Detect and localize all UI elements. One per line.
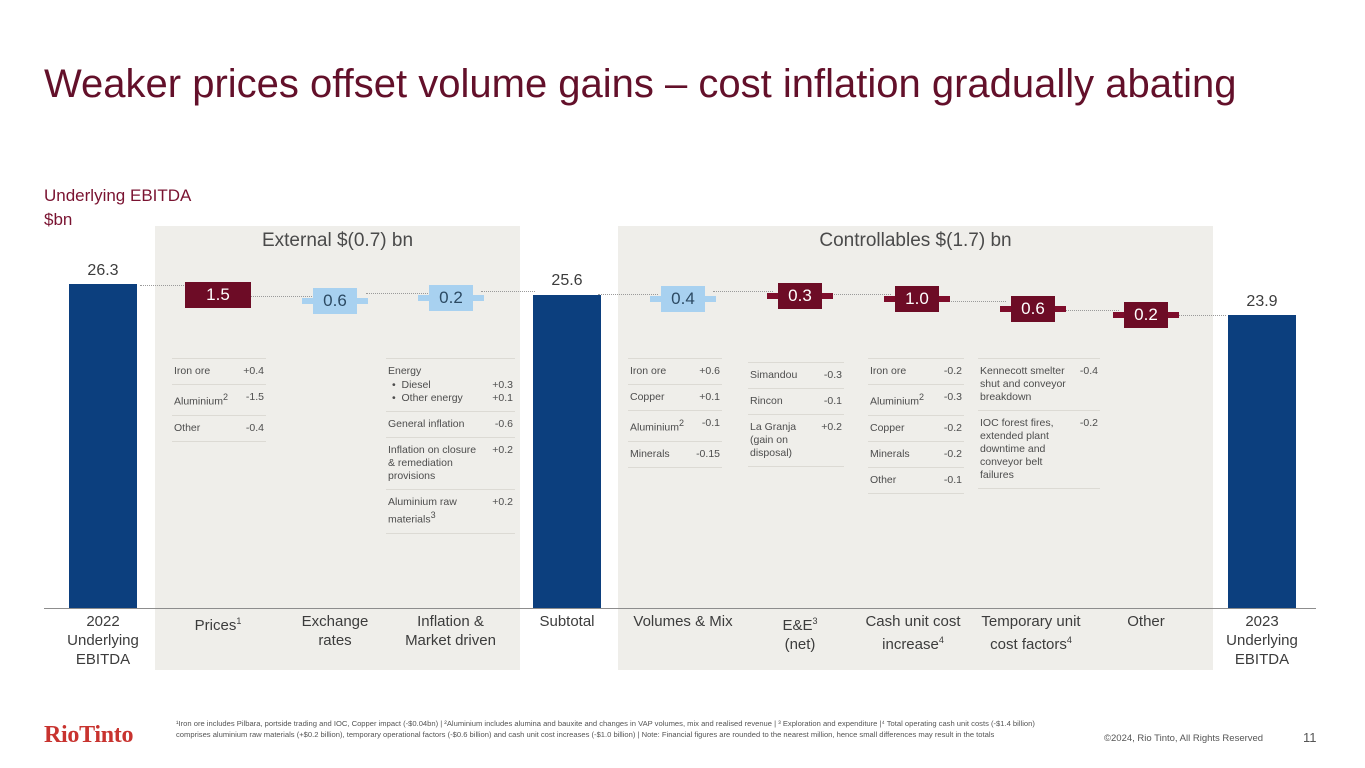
detail-row: La Granja (gain on disposal)+0.2 xyxy=(748,414,844,467)
detail-row-value: -0.3 xyxy=(944,391,962,404)
bar-label-subtotal: 25.6 xyxy=(527,272,607,290)
cat-subtotal: Subtotal xyxy=(509,612,625,631)
detail-bullet-label: • Diesel xyxy=(388,379,431,392)
bar-label-2023: 23.9 xyxy=(1222,293,1302,311)
detail-row-value: -0.2 xyxy=(944,365,962,378)
group-title-external: External $(0.7) bn xyxy=(155,230,520,252)
page-title: Weaker prices offset volume gains – cost… xyxy=(44,58,1237,110)
detail-row: Rincon-0.1 xyxy=(748,388,844,414)
detail-row: Iron ore+0.4 xyxy=(172,358,266,384)
bar-delta-inflation[interactable]: 0.2 xyxy=(418,285,484,311)
bar-2023-underlying-ebitda[interactable] xyxy=(1228,315,1296,608)
connector-inflation-sub xyxy=(481,291,535,292)
detail-row-value: -0.1 xyxy=(824,395,842,408)
detail-row: Aluminium raw materials3+0.2 xyxy=(386,489,515,534)
cat-volumes: Volumes & Mix xyxy=(622,612,744,631)
detail-row-value: -0.1 xyxy=(944,474,962,487)
cat-prices: Prices1 xyxy=(160,612,276,635)
bar-delta-prices-label: 1.5 xyxy=(185,282,251,308)
cat-ee: E&E3(net) xyxy=(757,612,843,654)
cat-line: increase4 xyxy=(855,631,971,654)
detail-row-label: Kennecott smelter shut and conveyor brea… xyxy=(980,365,1080,404)
detail-row-label: Minerals xyxy=(870,448,918,461)
bar-delta-ee-net-label: 0.3 xyxy=(778,283,822,309)
detail-table-volumes: Iron ore+0.6Copper+0.1Aluminium2-0.1Mine… xyxy=(628,358,722,468)
detail-row-value: -0.1 xyxy=(702,417,720,430)
copyright-text: ©2024, Rio Tinto, All Rights Reserved xyxy=(1104,733,1263,744)
detail-bullet-value: +0.3 xyxy=(492,379,513,392)
detail-row: General inflation-0.6 xyxy=(386,411,515,437)
connector-sub-volumes xyxy=(598,294,658,295)
detail-row: Copper-0.2 xyxy=(868,415,964,441)
detail-row: Simandou-0.3 xyxy=(748,362,844,388)
baseline-axis xyxy=(44,608,1316,609)
detail-row-label: Minerals xyxy=(630,448,678,461)
detail-row-label: Copper xyxy=(630,391,672,404)
detail-row-value: -1.5 xyxy=(246,391,264,404)
cat-line: Market driven xyxy=(385,631,516,650)
cat-line: E&E3 xyxy=(757,612,843,635)
bar-delta-exchange-rates[interactable]: 0.6 xyxy=(302,288,368,314)
cat-line: 2022 xyxy=(46,612,160,631)
bar-2022-underlying-ebitda[interactable] xyxy=(69,284,137,608)
detail-row-label: Energy xyxy=(388,365,513,378)
cat-line: EBITDA xyxy=(46,650,160,669)
detail-row-value: -0.4 xyxy=(1080,365,1098,378)
cat-line: Underlying xyxy=(46,631,160,650)
cat-2022: 2022UnderlyingEBITDA xyxy=(46,612,160,669)
detail-table-prices: Iron ore+0.4Aluminium2-1.5Other-0.4 xyxy=(172,358,266,442)
detail-row-label: Aluminium2 xyxy=(630,417,692,435)
bar-delta-temporary-unit-cost[interactable]: 0.6 xyxy=(1000,296,1066,322)
cat-line: Temporary unit xyxy=(972,612,1090,631)
cat-temporary: Temporary unitcost factors4 xyxy=(972,612,1090,654)
cat-line: Volumes & Mix xyxy=(622,612,744,631)
detail-row: Minerals-0.2 xyxy=(868,441,964,467)
detail-row-value: -0.15 xyxy=(696,448,720,461)
detail-row-value: +0.4 xyxy=(243,365,264,378)
detail-table-inflation: Energy• Diesel+0.3• Other energy+0.1Gene… xyxy=(386,358,515,534)
bar-delta-volumes-mix-label: 0.4 xyxy=(661,286,705,312)
cat-line: Cash unit cost xyxy=(855,612,971,631)
detail-row-value: -0.6 xyxy=(495,418,513,431)
detail-row-label: Simandou xyxy=(750,369,805,382)
detail-row-label: Inflation on closure & remediation provi… xyxy=(388,444,492,483)
detail-row: Aluminium2-0.1 xyxy=(628,410,722,441)
slide-root: Weaker prices offset volume gains – cost… xyxy=(0,0,1365,768)
detail-bullet: • Other energy+0.1 xyxy=(388,392,513,405)
detail-row: Other-0.1 xyxy=(868,467,964,494)
detail-row-label: Other xyxy=(870,474,904,487)
riotinto-logo: RioTinto xyxy=(44,722,133,749)
detail-table-ee: Simandou-0.3Rincon-0.1La Granja (gain on… xyxy=(748,362,844,467)
cat-2023: 2023UnderlyingEBITDA xyxy=(1204,612,1320,669)
y-axis-caption-line1: Underlying EBITDA xyxy=(44,184,191,208)
detail-row-label: Iron ore xyxy=(630,365,674,378)
bar-subtotal[interactable] xyxy=(533,295,601,608)
detail-row-label: Copper xyxy=(870,422,912,435)
cat-line: Prices1 xyxy=(160,612,276,635)
detail-row: Inflation on closure & remediation provi… xyxy=(386,437,515,489)
cat-line: (net) xyxy=(757,635,843,654)
cat-line: cost factors4 xyxy=(972,631,1090,654)
detail-row-value: -0.2 xyxy=(1080,417,1098,430)
detail-row-label: Aluminium2 xyxy=(174,391,236,409)
bar-delta-inflation-label: 0.2 xyxy=(429,285,473,311)
detail-row-value: -0.3 xyxy=(824,369,842,382)
detail-row-value: +0.2 xyxy=(492,444,513,457)
cat-line: Other xyxy=(1090,612,1202,631)
bar-delta-other-label: 0.2 xyxy=(1124,302,1168,328)
connector-ee-cashcost xyxy=(830,294,891,295)
page-number: 11 xyxy=(1303,730,1317,745)
detail-row: Iron ore+0.6 xyxy=(628,358,722,384)
detail-row-value: +0.1 xyxy=(699,391,720,404)
detail-row-value: -0.4 xyxy=(246,422,264,435)
detail-row-value: -0.2 xyxy=(944,422,962,435)
detail-row: Aluminium2-0.3 xyxy=(868,384,964,415)
detail-row-label: Aluminium raw materials3 xyxy=(388,496,492,527)
connector-cashcost-temp xyxy=(946,301,1006,302)
detail-row-label: La Granja (gain on disposal) xyxy=(750,421,821,460)
detail-row-value: +0.2 xyxy=(492,496,513,509)
detail-row: Other-0.4 xyxy=(172,415,266,442)
detail-row-value: -0.2 xyxy=(944,448,962,461)
bar-delta-other[interactable]: 0.2 xyxy=(1113,302,1179,328)
connector-other-2023 xyxy=(1176,315,1226,316)
y-axis-caption: Underlying EBITDA $bn xyxy=(44,184,191,232)
bar-delta-exchange-rates-label: 0.6 xyxy=(313,288,357,314)
detail-row-value: +0.6 xyxy=(699,365,720,378)
detail-table-cashcost: Iron ore-0.2Aluminium2-0.3Copper-0.2Mine… xyxy=(868,358,964,494)
footnote: ¹Iron ore includes Pilbara, portside tra… xyxy=(176,719,1041,740)
cat-other: Other xyxy=(1090,612,1202,631)
bar-delta-ee-net[interactable]: 0.3 xyxy=(767,283,833,309)
detail-bullet-value: +0.1 xyxy=(492,392,513,405)
detail-bullet-label: • Other energy xyxy=(388,392,463,405)
detail-row: Minerals-0.15 xyxy=(628,441,722,468)
detail-row-label: General inflation xyxy=(388,418,472,431)
detail-row-label: IOC forest fires, extended plant downtim… xyxy=(980,417,1080,482)
detail-row: Kennecott smelter shut and conveyor brea… xyxy=(978,358,1100,410)
cat-cashcost: Cash unit costincrease4 xyxy=(855,612,971,654)
detail-row: Energy• Diesel+0.3• Other energy+0.1 xyxy=(386,358,515,411)
detail-row: IOC forest fires, extended plant downtim… xyxy=(978,410,1100,489)
bar-delta-prices[interactable]: 1.5 xyxy=(185,282,251,308)
group-title-controllables: Controllables $(1.7) bn xyxy=(618,230,1213,252)
cat-fx: Exchangerates xyxy=(277,612,393,650)
detail-row-label: Iron ore xyxy=(174,365,218,378)
bar-delta-cash-unit-cost-label: 1.0 xyxy=(895,286,939,312)
cat-line: Underlying xyxy=(1204,631,1320,650)
cat-line: Subtotal xyxy=(509,612,625,631)
cat-inflation: Inflation &Market driven xyxy=(385,612,516,650)
detail-row-label: Iron ore xyxy=(870,365,914,378)
detail-row-value: +0.2 xyxy=(821,421,842,434)
connector-volumes-ee xyxy=(713,291,773,292)
bar-delta-cash-unit-cost[interactable]: 1.0 xyxy=(884,286,950,312)
detail-row-label: Other xyxy=(174,422,208,435)
detail-row: Copper+0.1 xyxy=(628,384,722,410)
detail-row-label: Rincon xyxy=(750,395,791,408)
cat-line: Exchange xyxy=(277,612,393,631)
connector-temp-other xyxy=(1063,310,1119,311)
cat-line: 2023 xyxy=(1204,612,1320,631)
detail-row: Iron ore-0.2 xyxy=(868,358,964,384)
bar-delta-volumes-mix[interactable]: 0.4 xyxy=(650,286,716,312)
cat-line: Inflation & xyxy=(385,612,516,631)
bar-label-2022: 26.3 xyxy=(63,262,143,280)
cat-line: rates xyxy=(277,631,393,650)
detail-bullet: • Diesel+0.3 xyxy=(388,379,513,392)
detail-table-temporary: Kennecott smelter shut and conveyor brea… xyxy=(978,358,1100,489)
detail-row: Aluminium2-1.5 xyxy=(172,384,266,415)
cat-line: EBITDA xyxy=(1204,650,1320,669)
bar-delta-temporary-unit-cost-label: 0.6 xyxy=(1011,296,1055,322)
detail-row-label: Aluminium2 xyxy=(870,391,932,409)
